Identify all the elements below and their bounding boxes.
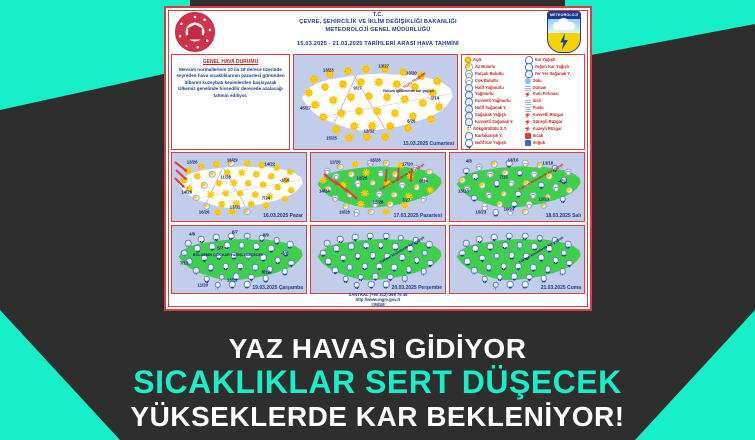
header-date-range: 15.03.2025 - 21.03.2025 TARİHLERİ ARASI … bbox=[169, 40, 587, 48]
map-weather-icon bbox=[311, 76, 317, 82]
map-weather-icon bbox=[383, 232, 390, 239]
mgm-logo-icon: METEOROLOJİ bbox=[547, 11, 581, 53]
map-weather-icon bbox=[472, 173, 479, 180]
map-weather-icon bbox=[526, 274, 533, 281]
map-weather-icon bbox=[330, 97, 336, 103]
map-weather-icon bbox=[541, 275, 548, 282]
legend-label: Açık bbox=[473, 57, 482, 64]
legend-row: Karlakarışık Y. bbox=[465, 133, 523, 140]
legend-row: Sıcak bbox=[525, 133, 583, 140]
legend-label: Az Bulutlu bbox=[475, 64, 495, 71]
temperature-label: 13/26 bbox=[187, 160, 198, 165]
map-date: 19.03.2025 Çarşamba bbox=[252, 285, 303, 291]
map-weather-icon bbox=[194, 245, 201, 252]
map-weather-icon bbox=[322, 84, 328, 90]
map-weather-icon bbox=[275, 257, 282, 264]
map-weather-icon bbox=[536, 234, 543, 241]
map-weather-icon bbox=[494, 253, 501, 260]
map-weather-icon bbox=[268, 245, 275, 252]
temperature-label: 10/23 bbox=[504, 207, 515, 212]
map-weather-icon bbox=[343, 276, 350, 283]
map-weather-icon bbox=[252, 264, 259, 271]
map-weather-icon bbox=[384, 94, 390, 100]
headline-caption: YAZ HAVASI GİDİYOR SICAKLIKLAR SERT DÜŞE… bbox=[0, 333, 755, 432]
map-weather-icon bbox=[538, 254, 545, 261]
legend-row: Yoğun Kar Yağışlı bbox=[525, 64, 583, 71]
map-weather-icon bbox=[427, 259, 434, 266]
map-weather-icon bbox=[502, 242, 509, 249]
map-weather-icon bbox=[394, 81, 400, 87]
main-map-note-snow: Yüksek kesimlerde kar yağışlı bbox=[383, 89, 434, 93]
map-weather-icon bbox=[362, 191, 367, 196]
legend-label: Hafif Kar Yağışlı bbox=[475, 140, 506, 147]
caption-line-2: SICAKLIKLAR SERT DÜŞECEK bbox=[0, 365, 755, 401]
map-canvas: 13/2313/2713/209/27-1/1445/278/2612/3215… bbox=[294, 55, 457, 149]
map-canvas: Yüksek kesimlerde kar yağışlı20.03.2025 … bbox=[311, 226, 445, 294]
legend-column-left: AçıkAz BulutluParçalı BulutluÇok Bulutlu… bbox=[465, 57, 523, 147]
map-weather-icon bbox=[376, 190, 383, 197]
temperature-label: 16/29 bbox=[227, 158, 238, 163]
map-weather-icon bbox=[508, 179, 515, 186]
map-weather-icon bbox=[486, 192, 493, 199]
map-weather-icon bbox=[369, 179, 376, 186]
map-weather-icon bbox=[434, 78, 440, 84]
map-weather-icon bbox=[353, 209, 360, 216]
map-weather-icon bbox=[219, 202, 224, 207]
legend-row: Açık bbox=[465, 57, 523, 64]
map-weather-icon bbox=[387, 123, 393, 129]
map-canvas: 4/813/1613/187/15-4/1113/1812/2310/2315/… bbox=[450, 153, 584, 221]
temperature-label: 8/26 bbox=[407, 118, 415, 123]
map-weather-icon bbox=[479, 255, 486, 262]
legend-label: Kuzeyli Rüzgar bbox=[533, 126, 562, 133]
map-weather-icon bbox=[506, 232, 513, 239]
map-weather-icon bbox=[357, 274, 364, 281]
temperature-label: -4/11 bbox=[558, 178, 568, 183]
map-weather-icon bbox=[392, 110, 398, 116]
legend-label: Kar Yağışlı bbox=[535, 57, 556, 64]
map-weather-icon bbox=[516, 169, 523, 176]
map-weather-icon bbox=[511, 273, 518, 280]
temperature-label: 14/22 bbox=[264, 162, 275, 167]
map-weather-icon bbox=[288, 170, 293, 175]
temperature-label: 9/27 bbox=[353, 85, 361, 90]
legend-row: Sağanak Yağışlı bbox=[465, 112, 523, 119]
temperature-label: 15/23 bbox=[475, 210, 486, 215]
daily-forecast-map[interactable]: 4/86/78/95/7-3/87/138/1213/2211/20BÖLGEN… bbox=[171, 225, 307, 295]
map-weather-icon bbox=[476, 236, 483, 243]
temperature-label: -1/16 bbox=[280, 178, 290, 183]
legend-row: Kuvvetli Yağmurlu bbox=[465, 98, 523, 105]
temperature-label: 8/12 bbox=[262, 270, 270, 275]
map-weather-icon bbox=[486, 264, 493, 271]
map-weather-icon bbox=[366, 93, 372, 99]
map-weather-icon bbox=[324, 240, 331, 247]
map-weather-icon bbox=[347, 264, 354, 271]
map-weather-icon bbox=[363, 66, 369, 72]
legend-row: Az Bulutlu bbox=[465, 64, 523, 71]
map-weather-icon bbox=[491, 161, 498, 168]
map-weather-icon bbox=[282, 197, 287, 202]
temperature-label: 45/27 bbox=[300, 105, 311, 110]
map-weather-icon bbox=[355, 253, 362, 260]
map-weather-icon bbox=[522, 160, 529, 167]
map-weather-icon bbox=[508, 252, 515, 259]
poster-top-band: GENEL HAVA DURUMU Mevsim normallerinin 1… bbox=[171, 54, 585, 150]
mist-icon bbox=[525, 106, 531, 112]
legend-row: Kum Fırtınası bbox=[525, 91, 583, 98]
map-canvas: Yüksek kesimlerde kar yağışlı21.03.2025 … bbox=[450, 226, 584, 294]
map-weather-icon bbox=[213, 234, 220, 241]
map-weather-icon bbox=[253, 193, 258, 198]
temperature-label: 5/7 bbox=[217, 245, 223, 250]
legend-row: Puslu bbox=[525, 105, 583, 112]
north-wind-icon bbox=[525, 126, 531, 132]
map-weather-icon bbox=[559, 196, 566, 203]
map-weather-icon bbox=[217, 181, 222, 186]
map-weather-icon bbox=[248, 274, 255, 281]
map-weather-icon bbox=[264, 203, 269, 208]
map-weather-icon bbox=[281, 268, 288, 275]
map-weather-icon bbox=[383, 160, 390, 167]
temperature-label: -1/14 bbox=[429, 96, 439, 101]
legend-row: Yağmurlu bbox=[465, 91, 523, 98]
map-weather-icon bbox=[249, 202, 254, 207]
map-weather-icon bbox=[436, 104, 442, 110]
legend-row: Yer Yer Sağanak Y. bbox=[525, 71, 583, 78]
legend-row: Soğuk bbox=[525, 140, 583, 147]
map-weather-icon bbox=[218, 274, 225, 281]
map-weather-icon bbox=[491, 234, 498, 241]
map-weather-icon bbox=[471, 194, 478, 201]
light-snow-icon bbox=[465, 139, 473, 147]
temperature-label: 13/16 bbox=[508, 157, 519, 162]
map-weather-icon bbox=[383, 281, 390, 288]
map-weather-icon bbox=[239, 170, 244, 175]
map-weather-icon bbox=[399, 181, 406, 188]
map-weather-icon bbox=[561, 249, 568, 256]
map-weather-icon bbox=[515, 190, 522, 197]
map-weather-icon bbox=[346, 135, 352, 141]
daily-forecast-map[interactable]: Yüksek kesimlerde kar yağışlı21.03.2025 … bbox=[449, 225, 585, 295]
map-weather-icon bbox=[348, 171, 355, 178]
map-weather-icon bbox=[565, 241, 572, 248]
map-weather-icon bbox=[333, 173, 340, 180]
map-weather-icon bbox=[195, 174, 200, 179]
map-weather-icon bbox=[387, 201, 394, 208]
map-weather-icon bbox=[522, 208, 529, 215]
map-weather-icon bbox=[464, 258, 471, 265]
legend-label: Hafif Sağanak Y. bbox=[475, 105, 507, 112]
map-weather-icon bbox=[530, 192, 537, 199]
map-weather-icon bbox=[405, 125, 411, 131]
map-weather-icon bbox=[273, 237, 280, 244]
legend-row: Parçalı Bulutlu bbox=[465, 71, 523, 78]
map-weather-icon bbox=[209, 193, 214, 198]
map-weather-icon bbox=[367, 232, 374, 239]
sandstorm-icon bbox=[525, 92, 531, 98]
weather-legend: AçıkAz BulutluParçalı BulutluÇok Bulutlu… bbox=[461, 54, 585, 150]
temperature-label: 12/23 bbox=[538, 196, 549, 201]
legend-label: Karlakarışık Y. bbox=[475, 133, 503, 140]
daily-forecast-map-grid: 13/2616/2914/2211/28-1/1614/267/2413/321… bbox=[171, 152, 585, 294]
legend-label: Sisli bbox=[533, 98, 541, 105]
map-weather-icon bbox=[358, 202, 363, 207]
map-weather-icon bbox=[487, 171, 494, 178]
map-weather-icon bbox=[306, 90, 312, 96]
legend-row: Kuvvetli Rüzgar bbox=[525, 112, 583, 119]
map-weather-icon bbox=[566, 187, 573, 194]
map-weather-icon bbox=[222, 263, 229, 270]
map-weather-icon bbox=[351, 123, 357, 129]
map-weather-icon bbox=[428, 188, 433, 193]
legend-label: Kuvvetli Sağanak Y. bbox=[475, 119, 513, 126]
map-weather-icon bbox=[338, 110, 344, 116]
map-weather-icon bbox=[414, 257, 421, 264]
map-weather-icon bbox=[320, 114, 326, 120]
temperature-label: 16/28 bbox=[339, 209, 350, 214]
map-weather-icon bbox=[204, 276, 211, 283]
cloud-icon bbox=[553, 22, 575, 30]
map-weather-icon bbox=[422, 249, 429, 256]
map-weather-icon bbox=[363, 242, 370, 249]
map-weather-icon bbox=[340, 255, 347, 262]
map-weather-icon bbox=[391, 192, 398, 199]
map-weather-icon bbox=[246, 181, 251, 186]
temperature-label: 4/8 bbox=[466, 159, 472, 164]
map-weather-icon bbox=[426, 241, 433, 248]
strong-wind-icon bbox=[525, 113, 531, 119]
map-weather-icon bbox=[214, 162, 219, 167]
legend-label: Sağanak Yağışlı bbox=[475, 112, 506, 119]
map-weather-icon bbox=[288, 259, 295, 266]
map-weather-icon bbox=[245, 161, 250, 166]
map-weather-icon bbox=[420, 100, 426, 106]
map-weather-icon bbox=[420, 268, 427, 275]
map-weather-icon bbox=[500, 190, 507, 197]
weather-bulletin-poster: METEOROLOJİ T.C. ÇEVRE, ŞEHİRCİLİK VE İK… bbox=[164, 6, 592, 311]
wind-arrow-icon bbox=[410, 169, 413, 181]
map-weather-icon bbox=[230, 209, 235, 214]
legend-label: Yer Yer Sağanak Y. bbox=[535, 71, 571, 78]
map-weather-icon bbox=[340, 81, 346, 87]
heavy-shower-icon bbox=[465, 118, 473, 126]
map-weather-icon bbox=[402, 96, 408, 102]
temperature-label: 7/24 bbox=[262, 195, 270, 200]
map-weather-icon bbox=[238, 242, 245, 249]
temperature-label: 0/14 bbox=[419, 179, 427, 184]
map-weather-icon bbox=[472, 245, 479, 252]
map-weather-icon bbox=[181, 249, 188, 256]
legend-label: Yağmurlu bbox=[475, 91, 494, 98]
legend-row: Kuvvetli Sağanak Y. bbox=[465, 119, 523, 126]
map-weather-icon bbox=[312, 102, 318, 108]
legend-label: Kuvvetli Rüzgar bbox=[533, 112, 564, 119]
temperature-label: 13/18 bbox=[458, 189, 469, 194]
caption-line-3: YÜKSEKLERDE KAR BEKLENİYOR! bbox=[0, 401, 755, 432]
legend-label: Çok Bulutlu bbox=[475, 78, 498, 85]
temperature-label: 8/9 bbox=[263, 232, 269, 237]
temperature-label: 6/7 bbox=[232, 229, 238, 234]
legend-label: Sıcak bbox=[533, 133, 544, 140]
map-weather-icon bbox=[332, 194, 339, 201]
map-weather-icon bbox=[348, 243, 355, 250]
map-weather-icon bbox=[352, 234, 359, 241]
temperature-label: 14/24 bbox=[319, 189, 330, 194]
map-weather-icon bbox=[391, 264, 398, 271]
map-weather-icon bbox=[345, 68, 351, 74]
poster-footer: SANTRAL (+90 312) 359 75 45 http://www.m… bbox=[171, 292, 585, 307]
caption-line-1: YAZ HAVASI GİDİYOR bbox=[0, 333, 755, 364]
map-weather-icon bbox=[348, 94, 354, 100]
temperature-label: 17/20 bbox=[402, 161, 413, 166]
map-weather-icon bbox=[382, 134, 388, 140]
legend-label: Yoğun Kar Yağışlı bbox=[535, 64, 569, 71]
map-weather-icon bbox=[199, 164, 204, 169]
map-weather-icon bbox=[545, 266, 552, 273]
legend-row: Hafif Yağmurlu bbox=[465, 85, 523, 92]
header-department-name: METEOROLOJİ GENEL MÜDÜRLÜĞÜ bbox=[169, 27, 587, 35]
map-weather-icon bbox=[208, 264, 215, 271]
map-weather-icon bbox=[269, 174, 274, 179]
map-weather-icon bbox=[492, 209, 499, 216]
map-weather-icon bbox=[321, 178, 326, 183]
temperature-label: 13/27 bbox=[378, 64, 389, 69]
map-weather-icon bbox=[320, 249, 327, 256]
daily-forecast-map[interactable]: 4/813/1613/187/15-4/1113/1812/2310/2315/… bbox=[449, 152, 585, 222]
legend-row: Duman bbox=[525, 85, 583, 92]
legend-label: Kum Fırtınası bbox=[533, 91, 559, 98]
map-weather-icon bbox=[374, 108, 380, 114]
map-weather-icon bbox=[337, 236, 344, 243]
map-weather-icon bbox=[372, 273, 379, 280]
map-weather-icon bbox=[496, 274, 503, 281]
legend-label: Duman bbox=[533, 85, 547, 92]
map-weather-icon bbox=[559, 268, 566, 275]
map-weather-icon bbox=[565, 169, 572, 176]
footer-copyright: ©MGM bbox=[171, 302, 585, 307]
scattered-shower-icon bbox=[525, 70, 533, 78]
map-weather-icon bbox=[253, 243, 260, 250]
daily-forecast-map[interactable]: 12/2016/2817/2012/250/1414/2412/287/2716… bbox=[310, 152, 446, 222]
main-map-date: 15.03.2025 Cumartesi bbox=[403, 141, 454, 147]
map-weather-icon bbox=[238, 191, 243, 196]
map-weather-icon bbox=[426, 169, 433, 176]
map-weather-icon bbox=[387, 274, 394, 281]
map-weather-icon bbox=[541, 202, 548, 209]
decorative-corner-top-right bbox=[565, 0, 755, 60]
temperature-label: 16/26 bbox=[199, 210, 210, 215]
temperature-label: 13/23 bbox=[323, 68, 334, 73]
temperature-label: 12/28 bbox=[373, 199, 384, 204]
poster-header: METEOROLOJİ T.C. ÇEVRE, ŞEHİRCİLİK VE İK… bbox=[169, 11, 587, 52]
temperature-label: 13/20 bbox=[406, 70, 417, 75]
legend-row: Hafif Sağanak Y. bbox=[465, 105, 523, 112]
daily-forecast-map[interactable]: Yüksek kesimlerde kar yağışlı20.03.2025 … bbox=[310, 225, 446, 295]
map-weather-icon bbox=[492, 282, 499, 289]
map-weather-icon bbox=[356, 108, 362, 114]
map-canvas: 13/2616/2914/2211/28-1/1614/267/2413/321… bbox=[172, 153, 306, 221]
map-weather-icon bbox=[369, 252, 376, 259]
temperature-label: 14/26 bbox=[181, 190, 192, 195]
map-date: 20.03.2025 Perşembe bbox=[392, 285, 442, 291]
map-weather-icon bbox=[428, 116, 434, 122]
map-weather-icon bbox=[530, 264, 537, 271]
map-weather-icon bbox=[224, 242, 231, 249]
temperature-label: 12/25 bbox=[357, 175, 368, 180]
map-weather-icon bbox=[261, 182, 266, 187]
fog-icon bbox=[525, 99, 531, 105]
map-weather-icon bbox=[403, 203, 408, 208]
map-weather-icon bbox=[377, 169, 384, 176]
daily-forecast-map[interactable]: 13/2616/2914/2211/28-1/1614/267/2413/321… bbox=[171, 152, 307, 222]
legend-label: Güneyli Rüzgar bbox=[533, 119, 563, 126]
legend-label: Hafif Yağmurlu bbox=[475, 85, 504, 92]
hail-icon bbox=[525, 78, 531, 84]
legend-row: Sisli bbox=[525, 98, 583, 105]
map-weather-icon bbox=[364, 170, 369, 175]
cold-icon bbox=[525, 140, 531, 146]
map-weather-icon bbox=[361, 263, 368, 270]
map-weather-icon bbox=[244, 281, 251, 288]
map-weather-icon bbox=[193, 267, 200, 274]
map-weather-icon bbox=[237, 263, 244, 270]
map-weather-icon bbox=[471, 267, 478, 274]
map-weather-icon bbox=[516, 242, 523, 249]
map-weather-icon bbox=[459, 249, 466, 256]
map-weather-icon bbox=[487, 243, 494, 250]
map-weather-icon bbox=[201, 182, 208, 189]
temperature-label: 12/20 bbox=[330, 159, 341, 164]
map-weather-icon bbox=[538, 181, 545, 188]
map-weather-icon bbox=[333, 245, 340, 252]
map-weather-icon bbox=[353, 162, 358, 167]
temperature-label: 13/22 bbox=[227, 278, 238, 283]
map-weather-icon bbox=[496, 201, 503, 208]
legend-label: Gökgürültülü S.Y. bbox=[473, 126, 507, 133]
lightning-bolt-icon bbox=[559, 33, 570, 50]
map-date: 21.03.2025 Cuma bbox=[541, 285, 581, 291]
temperature-label: 16/28 bbox=[370, 157, 381, 162]
map-weather-icon bbox=[332, 267, 339, 274]
map-weather-icon bbox=[254, 172, 259, 177]
legend-label: Kuvvetli Yağmurlu bbox=[475, 98, 511, 105]
main-forecast-map: 13/2313/2713/209/27-1/1445/278/2612/3215… bbox=[293, 54, 458, 150]
temperature-label: 13/18 bbox=[542, 161, 553, 166]
map-weather-icon bbox=[204, 203, 211, 210]
temperature-label: 13/32 bbox=[230, 205, 241, 210]
map-canvas: 4/86/78/95/7-3/87/138/1213/2211/20BÖLGEN… bbox=[172, 226, 306, 294]
map-weather-icon bbox=[231, 180, 236, 185]
map-weather-icon bbox=[244, 208, 251, 215]
map-weather-icon bbox=[368, 281, 375, 288]
map-weather-icon bbox=[223, 191, 228, 196]
legend-row: Gökgürültülü S.Y. bbox=[465, 126, 523, 133]
legend-row: Kar Yağışlı bbox=[525, 57, 583, 64]
map-weather-icon bbox=[289, 188, 294, 193]
south-wind-icon bbox=[525, 119, 531, 125]
map-weather-icon bbox=[185, 240, 192, 247]
map-weather-icon bbox=[358, 79, 364, 85]
map-weather-icon bbox=[244, 232, 251, 239]
map-weather-icon bbox=[479, 182, 486, 189]
map-weather-icon bbox=[500, 263, 507, 270]
map-weather-icon bbox=[522, 232, 529, 239]
temperature-label: 7/15 bbox=[499, 174, 507, 179]
header-ministry-name: ÇEVRE, ŞEHİRCİLİK VE İKLİM DEĞİŞİKLİĞİ B… bbox=[169, 19, 587, 27]
temperature-label: -3/8 bbox=[281, 250, 288, 255]
temperature-label: 7/27 bbox=[402, 198, 410, 203]
